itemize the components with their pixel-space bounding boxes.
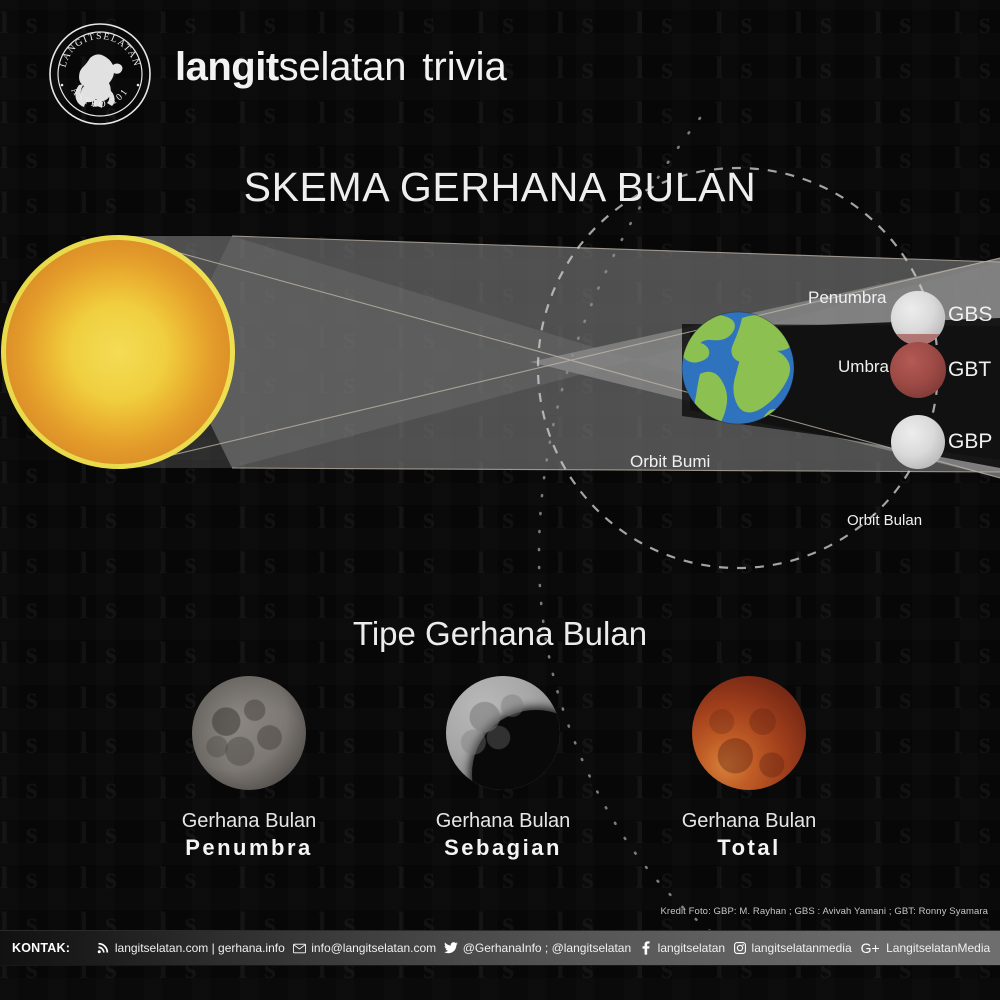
- label-gbs: GBS: [948, 303, 992, 327]
- eclipse-type-card-penumbral: Gerhana Bulan Penumbra: [139, 676, 359, 862]
- contact-twitter-text: @GerhanaInfo ; @langitselatan: [463, 941, 631, 955]
- photo-credit: Kredit Foto: GBP: M. Rayhan ; GBS : Aviv…: [661, 906, 989, 917]
- label-orbit-bumi: Orbit Bumi: [630, 452, 710, 472]
- eclipse-type-label-line2: Total: [639, 834, 859, 862]
- wordmark-light: selatan: [279, 45, 407, 89]
- moon-gbp: [891, 415, 945, 469]
- label-gbp: GBP: [948, 430, 992, 454]
- contact-label: KONTAK:: [0, 941, 70, 955]
- contact-facebook-text: langitselatan: [658, 941, 725, 955]
- page-title: SKEMA GERHANA BULAN: [0, 164, 1000, 211]
- contact-twitter[interactable]: @GerhanaInfo ; @langitselatan: [442, 941, 633, 955]
- infographic-page: ls ls ls ls ls ls ls ls ls ls ls ls ls l…: [0, 0, 1000, 1000]
- eclipse-type-card-total: Gerhana Bulan Total: [639, 676, 859, 862]
- section-title-eclipse-types: Tipe Gerhana Bulan: [0, 615, 1000, 653]
- googleplus-icon: G+: [859, 941, 881, 955]
- twitter-icon: [444, 941, 458, 955]
- moon-photo-total: [692, 676, 806, 790]
- eclipse-type-label-line1: Gerhana Bulan: [393, 808, 613, 834]
- contact-website-text: langitselatan.com | gerhana.info: [115, 941, 285, 955]
- eclipse-type-label-line2: Sebagian: [393, 834, 613, 862]
- envelope-icon: [292, 941, 306, 955]
- facebook-icon: [639, 941, 653, 955]
- label-penumbra: Penumbra: [808, 288, 886, 308]
- eclipse-type-label-line1: Gerhana Bulan: [139, 808, 359, 834]
- brand-wordmark: langitselatantrivia: [175, 41, 507, 93]
- moon-gbt: [890, 342, 946, 398]
- contact-email[interactable]: info@langitselatan.com: [290, 941, 438, 955]
- contact-instagram-text: langitselatanmedia: [752, 941, 852, 955]
- label-orbit-bulan: Orbit Bulan: [847, 512, 922, 529]
- eclipse-type-label-line2: Penumbra: [139, 834, 359, 862]
- eclipse-type-label-line1: Gerhana Bulan: [639, 808, 859, 834]
- wordmark-trivia: trivia: [422, 45, 506, 89]
- rss-icon: [96, 941, 110, 955]
- contact-googleplus-text: LangitselatanMedia: [886, 941, 990, 955]
- wordmark-bold: langit: [175, 45, 279, 89]
- sun: [1, 235, 235, 469]
- contact-website[interactable]: langitselatan.com | gerhana.info: [94, 941, 287, 955]
- label-gbt: GBT: [948, 358, 991, 382]
- langitselatan-astro101-seal-icon: LANGITSELATAN ASTRO 101: [48, 22, 152, 126]
- contact-facebook[interactable]: langitselatan: [637, 941, 727, 955]
- moon-photo-partial: [446, 676, 560, 790]
- contact-instagram[interactable]: langitselatanmedia: [731, 941, 854, 955]
- eclipse-type-card-partial: Gerhana Bulan Sebagian: [393, 676, 613, 862]
- header: LANGITSELATAN ASTRO 101 langitselatantri…: [0, 0, 1000, 140]
- contact-footer: KONTAK: langitselatan.com | gerhana.info…: [0, 930, 1000, 966]
- moon-photo-penumbral: [192, 676, 306, 790]
- contact-googleplus[interactable]: G+ LangitselatanMedia: [857, 941, 992, 955]
- instagram-icon: [733, 941, 747, 955]
- contact-email-text: info@langitselatan.com: [311, 941, 436, 955]
- contact-items: langitselatan.com | gerhana.info info@la…: [70, 941, 1000, 955]
- label-umbra: Umbra: [838, 357, 889, 377]
